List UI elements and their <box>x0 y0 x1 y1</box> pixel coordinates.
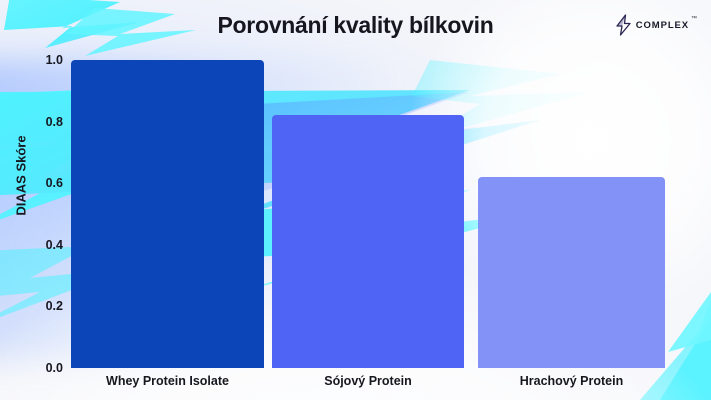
x-label-sojovy-protein: Sójový Protein <box>272 374 464 388</box>
bar-sojovy-protein <box>272 115 464 368</box>
y-tick-4: 0.8 <box>46 115 63 129</box>
lightning-bolt-icon <box>615 14 632 36</box>
page-title: Porovnání kvality bílkovin <box>0 12 711 39</box>
bar-hrachovy-protein <box>478 177 665 368</box>
x-label-hrachovy-protein: Hrachový Protein <box>478 374 665 388</box>
trademark-symbol: ™ <box>691 16 697 22</box>
infographic-canvas: Porovnání kvality bílkovin COMPLEX ™ DIA… <box>0 0 711 400</box>
y-tick-5: 1.0 <box>46 53 63 67</box>
bar-whey-protein-isolate <box>71 60 264 368</box>
y-tick-3: 0.6 <box>46 176 63 190</box>
y-tick-2: 0.4 <box>46 238 63 252</box>
y-axis-title: DIAAS Skóre <box>14 111 29 241</box>
y-axis: DIAAS Skóre 0.0 0.2 0.4 0.6 0.8 1.0 <box>0 0 71 400</box>
brand-name: COMPLEX <box>636 20 689 31</box>
y-tick-0: 0.0 <box>46 361 63 375</box>
y-tick-1: 0.2 <box>46 299 63 313</box>
brand-logo: COMPLEX ™ <box>615 14 697 36</box>
bar-chart-plot-area <box>71 60 668 368</box>
x-label-whey-protein-isolate: Whey Protein Isolate <box>71 374 264 388</box>
